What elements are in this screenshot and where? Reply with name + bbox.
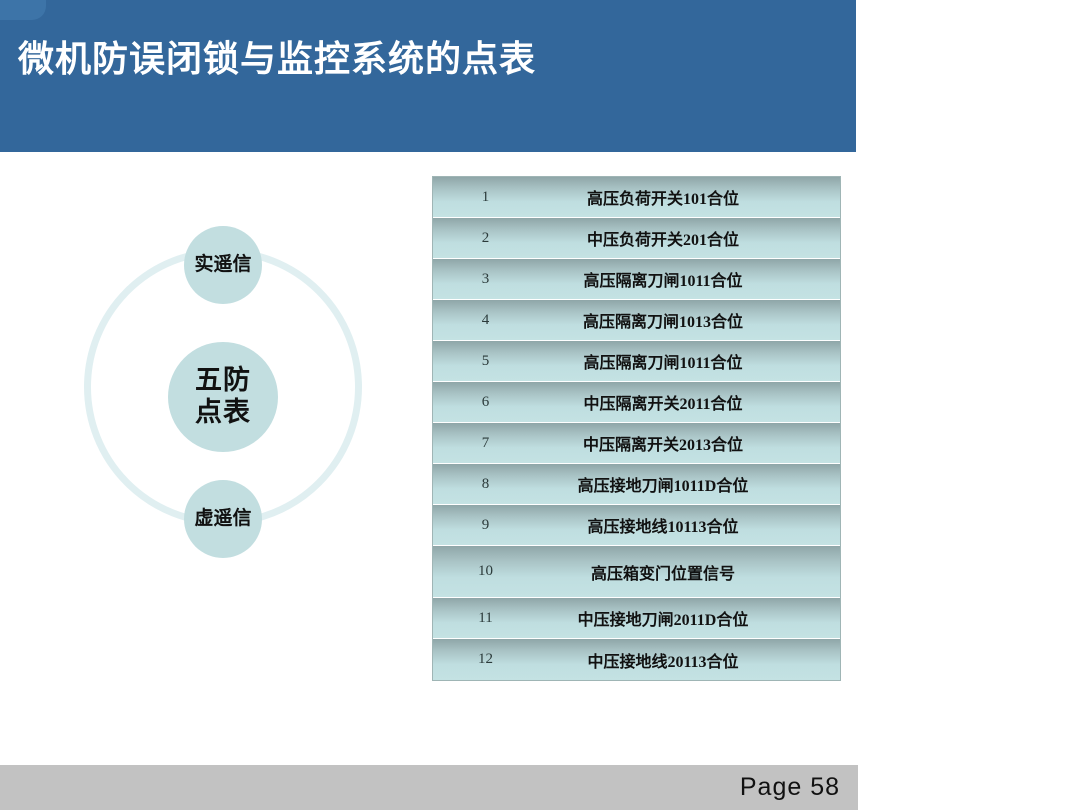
table-cell-index: 9 bbox=[433, 517, 538, 534]
table-cell-index: 12 bbox=[433, 651, 538, 668]
diagram-center-line-2: 点表 bbox=[195, 397, 251, 427]
page-title: 微机防误闭锁与监控系统的点表 bbox=[18, 36, 838, 81]
table-cell-name: 高压接地刀闸1011D合位 bbox=[538, 472, 840, 496]
table-cell-name: 高压箱变门位置信号 bbox=[538, 560, 840, 584]
table-cell-index: 7 bbox=[433, 435, 538, 452]
table-cell-index: 10 bbox=[433, 563, 538, 580]
diagram-node-top-label: 实遥信 bbox=[184, 254, 262, 276]
diagram-node-bottom: 虚遥信 bbox=[184, 480, 262, 558]
table-cell-name: 高压隔离刀闸1011合位 bbox=[538, 349, 840, 373]
table-row[interactable]: 4高压隔离刀闸1013合位 bbox=[433, 300, 840, 341]
table-cell-index: 5 bbox=[433, 353, 538, 370]
table-cell-name: 中压接地线20113合位 bbox=[538, 648, 840, 672]
table-row[interactable]: 8高压接地刀闸1011D合位 bbox=[433, 464, 840, 505]
diagram-center-line-1: 五防 bbox=[195, 365, 251, 395]
footer-bar: Page 58 bbox=[0, 765, 858, 810]
table-row[interactable]: 6中压隔离开关2011合位 bbox=[433, 382, 840, 423]
slide-header-band: 微机防误闭锁与监控系统的点表 bbox=[0, 0, 856, 152]
table-row[interactable]: 2中压负荷开关201合位 bbox=[433, 218, 840, 259]
table-cell-index: 2 bbox=[433, 230, 538, 247]
table-cell-index: 3 bbox=[433, 271, 538, 288]
table-cell-name: 中压隔离开关2013合位 bbox=[538, 431, 840, 455]
table-cell-name: 中压接地刀闸2011D合位 bbox=[538, 606, 840, 630]
diagram-node-bottom-label: 虚遥信 bbox=[184, 508, 262, 530]
page-number-label: Page 58 bbox=[740, 773, 840, 802]
diagram-node-center-label: 五防 点表 bbox=[168, 365, 278, 429]
point-table: 1高压负荷开关101合位2中压负荷开关201合位3高压隔离刀闸1011合位4高压… bbox=[432, 176, 841, 681]
table-row[interactable]: 5高压隔离刀闸1011合位 bbox=[433, 341, 840, 382]
table-cell-name: 高压负荷开关101合位 bbox=[538, 185, 840, 209]
diagram-node-top: 实遥信 bbox=[184, 226, 262, 304]
table-cell-index: 4 bbox=[433, 312, 538, 329]
table-cell-name: 中压隔离开关2011合位 bbox=[538, 390, 840, 414]
table-row[interactable]: 7中压隔离开关2013合位 bbox=[433, 423, 840, 464]
diagram-node-center: 五防 点表 bbox=[168, 342, 278, 452]
table-row[interactable]: 10高压箱变门位置信号 bbox=[433, 546, 840, 598]
table-cell-name: 高压接地线10113合位 bbox=[538, 513, 840, 537]
table-cell-index: 11 bbox=[433, 610, 538, 627]
table-row[interactable]: 12中压接地线20113合位 bbox=[433, 639, 840, 680]
table-cell-name: 中压负荷开关201合位 bbox=[538, 226, 840, 250]
table-cell-index: 6 bbox=[433, 394, 538, 411]
table-row[interactable]: 9高压接地线10113合位 bbox=[433, 505, 840, 546]
table-row[interactable]: 3高压隔离刀闸1011合位 bbox=[433, 259, 840, 300]
table-cell-name: 高压隔离刀闸1011合位 bbox=[538, 267, 840, 291]
circular-diagram: 实遥信 五防 点表 虚遥信 bbox=[78, 218, 370, 578]
header-accent-shape bbox=[0, 0, 46, 20]
table-cell-name: 高压隔离刀闸1013合位 bbox=[538, 308, 840, 332]
table-cell-index: 8 bbox=[433, 476, 538, 493]
table-cell-index: 1 bbox=[433, 189, 538, 206]
table-row[interactable]: 11中压接地刀闸2011D合位 bbox=[433, 598, 840, 639]
table-row[interactable]: 1高压负荷开关101合位 bbox=[433, 177, 840, 218]
